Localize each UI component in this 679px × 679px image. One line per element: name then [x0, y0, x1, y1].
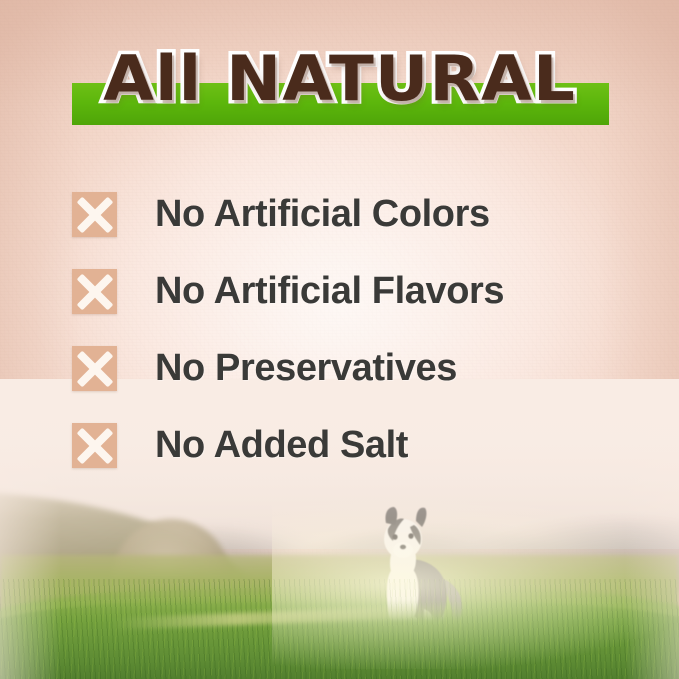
x-mark-icon: [72, 423, 117, 468]
x-mark-icon: [72, 346, 117, 391]
list-item: No Added Salt: [72, 407, 639, 484]
list-item-label: No Preservatives: [155, 347, 457, 390]
claims-list: No Artificial Colors No Artificial Flavo…: [72, 176, 639, 484]
list-item: No Preservatives: [72, 330, 639, 407]
x-mark-icon: [72, 269, 117, 314]
list-item: No Artificial Flavors: [72, 253, 639, 330]
product-infographic-poster: All NATURAL No Artificial Colors No Arti…: [0, 0, 679, 679]
list-item-label: No Added Salt: [155, 424, 408, 467]
list-item-label: No Artificial Flavors: [155, 270, 504, 313]
list-item-label: No Artificial Colors: [155, 193, 490, 236]
x-mark-icon: [72, 192, 117, 237]
list-item: No Artificial Colors: [72, 176, 639, 253]
page-title: All NATURAL: [0, 48, 679, 110]
grass-texture: [0, 579, 679, 679]
